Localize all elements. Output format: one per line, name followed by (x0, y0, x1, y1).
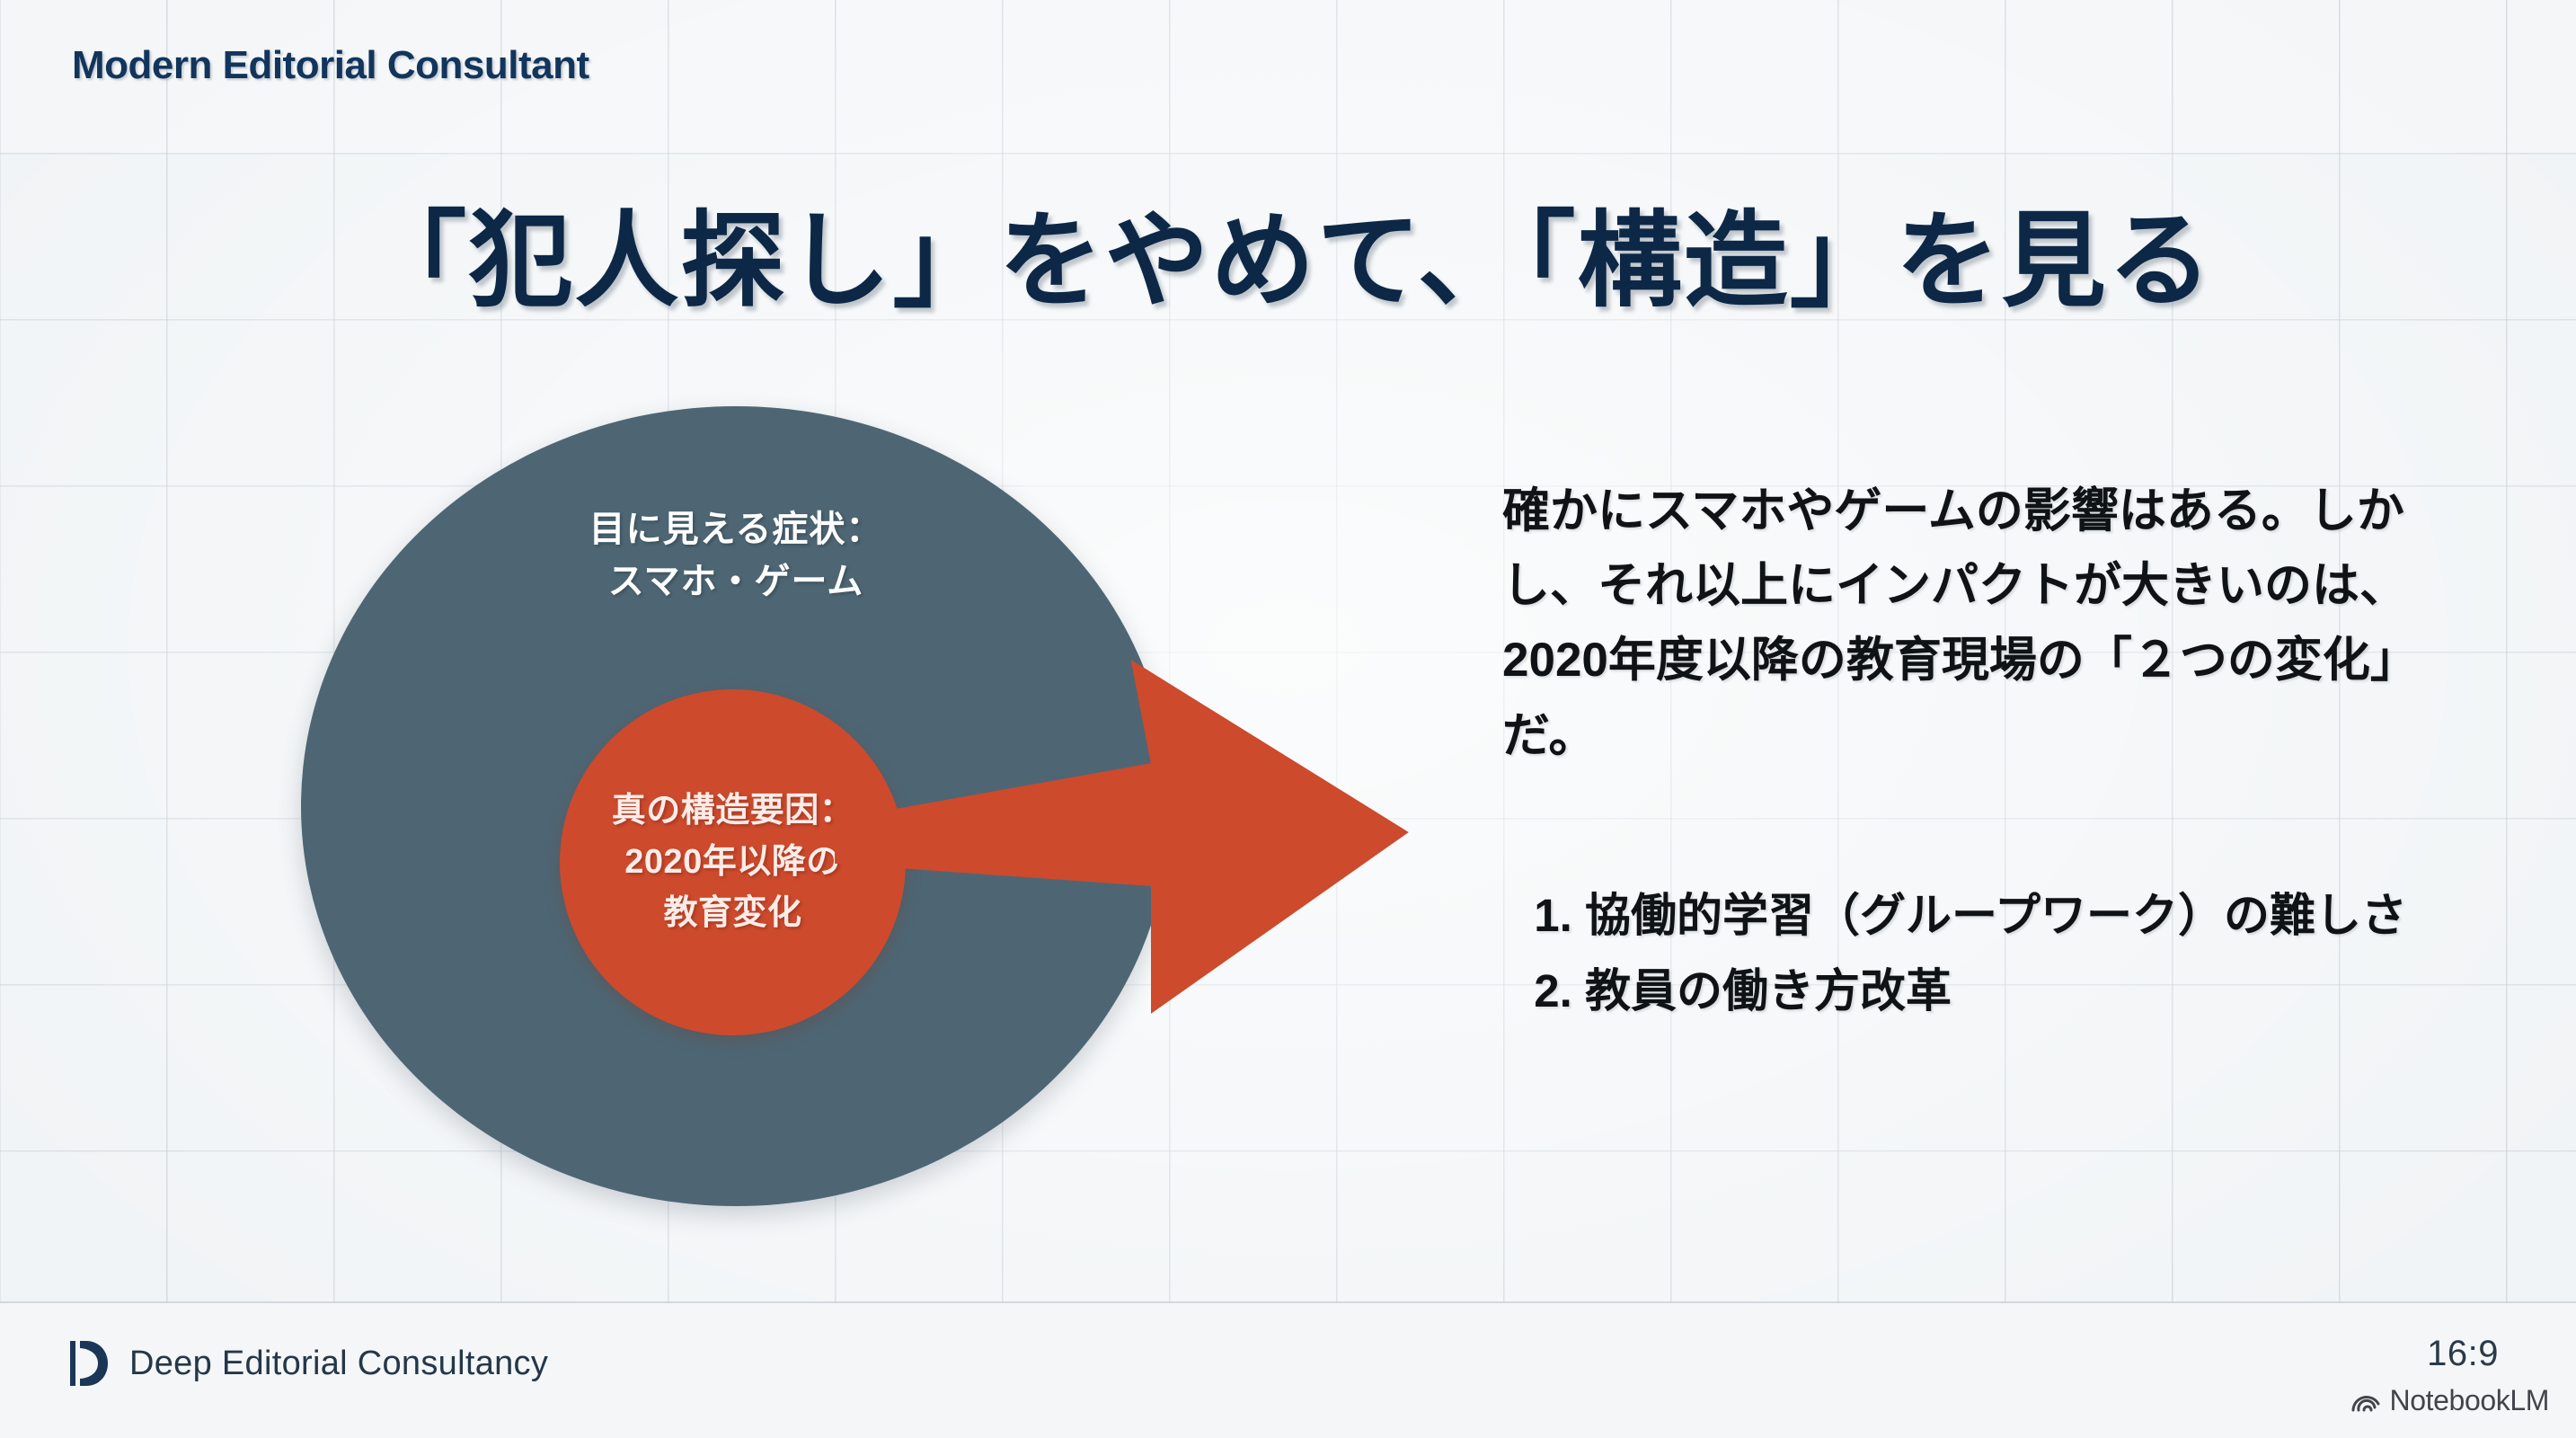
notebooklm-watermark: NotebookLM (2350, 1384, 2549, 1417)
inner-circle-label-line1: 真の構造要因： (612, 786, 854, 837)
change-list: 協働的学習（グループワーク）の難しさ 教員の働き方改革 (1529, 881, 2537, 1031)
footer-brand-name: Deep Editorial Consultancy (129, 1345, 548, 1383)
aspect-ratio-label: 16:9 (2427, 1334, 2499, 1374)
inner-circle-label-line2: 2020年以降の (612, 837, 854, 888)
header-brand-title: Modern Editorial Consultant (72, 43, 589, 88)
outer-circle-label-line2: スマホ・ゲーム (301, 555, 1171, 608)
deep-editorial-d-mark-icon (68, 1339, 110, 1388)
notebooklm-arc-icon (2350, 1389, 2381, 1413)
right-arrow-icon (836, 656, 1429, 1034)
inner-circle-label-line3: 教育変化 (612, 888, 854, 939)
list-item: 協働的学習（グループワーク）の難しさ (1585, 881, 2537, 951)
footer-brand: Deep Editorial Consultancy (68, 1339, 548, 1388)
inner-circle-label: 真の構造要因： 2020年以降の 教育変化 (612, 786, 854, 939)
body-paragraph: 確かにスマホやゲームの影響はある。しかし、それ以上にインパクトが大きいのは、20… (1502, 474, 2455, 773)
notebooklm-watermark-text: NotebookLM (2390, 1384, 2549, 1417)
outer-circle-label: 目に見える症状： スマホ・ゲーム (301, 503, 1171, 608)
list-item: 教員の働き方改革 (1585, 956, 2537, 1026)
outer-circle-label-line1: 目に見える症状： (301, 503, 1171, 555)
slide-canvas: Modern Editorial Consultant 「犯人探し」をやめて、「… (0, 0, 2576, 1438)
page-title: 「犯人探し」をやめて、「構造」を見る (0, 176, 2576, 327)
